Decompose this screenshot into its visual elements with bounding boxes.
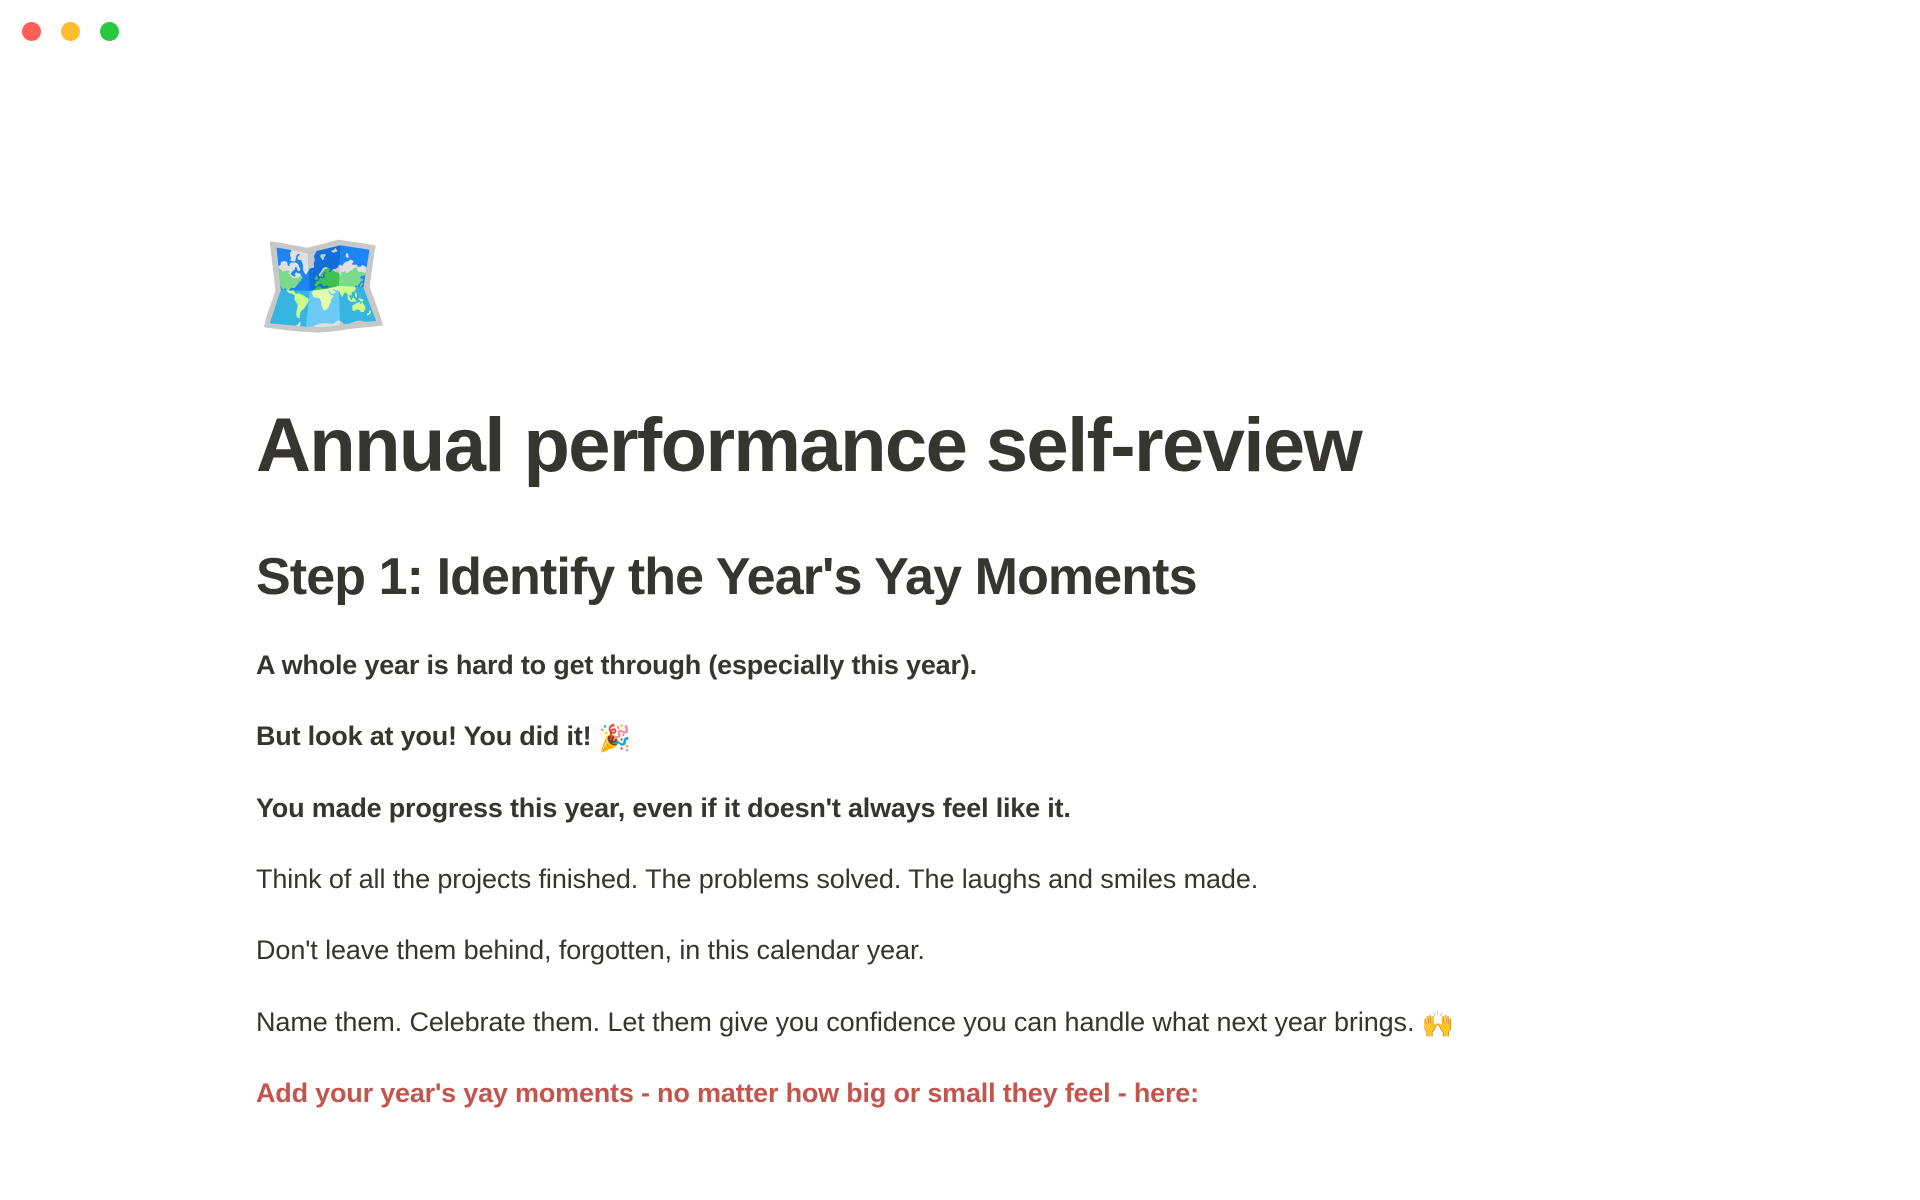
paragraph-text: Think of all the projects finished. The … <box>256 864 1258 894</box>
paragraph-block-callout[interactable]: Add your year's yay moments - no matter … <box>256 1068 1676 1119</box>
paragraph-block[interactable]: A whole year is hard to get through (esp… <box>256 640 1676 691</box>
document-content: 🗺️ Annual performance self-review Step 1… <box>256 232 1676 1140</box>
paragraph-block[interactable]: Think of all the projects finished. The … <box>256 854 1676 905</box>
paragraph-text: You made progress this year, even if it … <box>256 793 1071 823</box>
paragraph-text: A whole year is hard to get through (esp… <box>256 650 977 680</box>
minimize-window-button[interactable] <box>61 22 80 41</box>
paragraph-block[interactable]: But look at you! You did it! 🎉 <box>256 711 1676 762</box>
section-heading-step-1[interactable]: Step 1: Identify the Year's Yay Moments <box>256 549 1676 606</box>
paragraph-block[interactable]: You made progress this year, even if it … <box>256 783 1676 834</box>
page-title[interactable]: Annual performance self-review <box>256 406 1676 487</box>
document-scroll-area[interactable]: 🗺️ Annual performance self-review Step 1… <box>0 64 1920 1200</box>
maximize-window-button[interactable] <box>100 22 119 41</box>
window-traffic-lights <box>22 22 119 41</box>
raised-hands-emoji: 🙌 <box>1422 1009 1454 1039</box>
world-map-emoji[interactable]: 🗺️ <box>256 232 1676 350</box>
paragraph-block[interactable]: Name them. Celebrate them. Let them give… <box>256 997 1676 1048</box>
paragraph-text: Name them. Celebrate them. Let them give… <box>256 1007 1422 1037</box>
party-popper-emoji: 🎉 <box>599 723 631 753</box>
paragraph-text: Don't leave them behind, forgotten, in t… <box>256 935 925 965</box>
paragraph-text: But look at you! You did it! <box>256 721 599 751</box>
window-title-bar <box>0 0 1920 64</box>
close-window-button[interactable] <box>22 22 41 41</box>
paragraph-text: Add your year's yay moments - no matter … <box>256 1078 1199 1108</box>
paragraph-block[interactable]: Don't leave them behind, forgotten, in t… <box>256 925 1676 976</box>
